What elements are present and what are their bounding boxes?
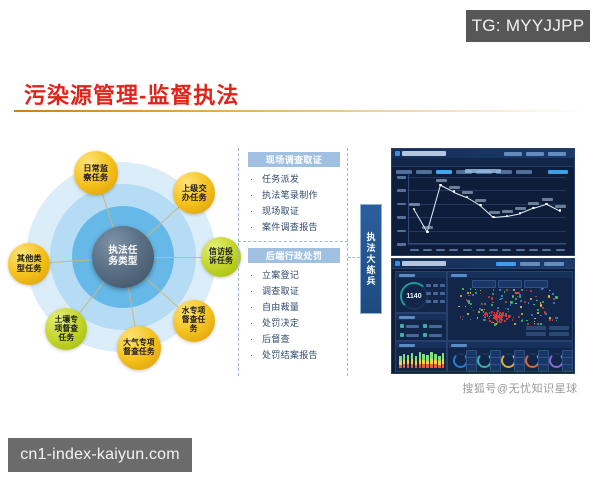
map-marker-dot[interactable] bbox=[536, 300, 538, 302]
bullet-icon: · bbox=[250, 286, 262, 296]
map-marker-dot[interactable] bbox=[470, 303, 472, 305]
diagram-node-label-7: 其他类型任务 bbox=[14, 254, 44, 272]
gridline-5 bbox=[408, 244, 566, 245]
x-axis-tick-label-1 bbox=[410, 249, 419, 252]
bullet-icon: · bbox=[250, 190, 262, 200]
map-marker-dot[interactable] bbox=[499, 289, 501, 291]
x-axis-tick-label-11 bbox=[542, 249, 551, 252]
map-marker-dot[interactable] bbox=[550, 290, 552, 292]
bar-11[interactable] bbox=[438, 356, 441, 368]
map-marker-dot[interactable] bbox=[552, 293, 554, 295]
gauge-metric-cell bbox=[426, 292, 431, 295]
lists-dashed-separator bbox=[238, 241, 348, 242]
map-marker-dot[interactable] bbox=[462, 319, 463, 320]
map-hotspot-dot[interactable] bbox=[491, 322, 493, 324]
dashboard-nav-item-3[interactable] bbox=[548, 152, 566, 157]
map-marker-dot[interactable] bbox=[508, 311, 509, 312]
diagram-node-label-3: 信访投诉任务 bbox=[207, 248, 235, 266]
map-marker-dot[interactable] bbox=[489, 316, 490, 317]
station-metric-chip bbox=[466, 364, 477, 372]
map-hotspot-dot[interactable] bbox=[491, 311, 493, 313]
map-marker-dot[interactable] bbox=[555, 296, 557, 298]
gis-title-placeholder bbox=[402, 261, 446, 266]
gauge-metric-cell bbox=[440, 292, 445, 295]
list-item-label: 自由裁量 bbox=[262, 302, 299, 312]
gis-station-panel bbox=[447, 341, 573, 372]
diagram-center-label: 执法任务类型 bbox=[104, 246, 142, 268]
data-label-3 bbox=[436, 179, 447, 182]
y-axis-tick-label-1 bbox=[397, 189, 406, 192]
x-axis-tick-label-2 bbox=[423, 249, 432, 252]
x-axis-tick-label-6 bbox=[476, 249, 485, 252]
map-marker-dot[interactable] bbox=[534, 304, 535, 305]
map-marker-dot[interactable] bbox=[556, 317, 558, 319]
map-marker-dot[interactable] bbox=[510, 304, 511, 305]
y-axis-line bbox=[408, 175, 409, 244]
bar-4[interactable] bbox=[411, 353, 414, 368]
vertical-banner-enforcement-drill: 执法大练兵 bbox=[360, 204, 382, 314]
data-point-3[interactable] bbox=[439, 184, 442, 187]
list-item[interactable]: ·任务派发 bbox=[250, 172, 299, 185]
gis-kpi-panel-header bbox=[396, 314, 446, 320]
map-hotspot-dot[interactable] bbox=[502, 316, 504, 318]
data-point-11[interactable] bbox=[545, 203, 548, 206]
dashboard-line-chart-screenshot bbox=[391, 148, 575, 256]
vertical-banner-label: 执法大练兵 bbox=[365, 232, 378, 287]
bullet-icon: · bbox=[250, 222, 262, 232]
map-marker-dot[interactable] bbox=[537, 312, 539, 314]
line-chart-title-placeholder bbox=[392, 169, 574, 173]
list-item-label: 执法笔录制作 bbox=[262, 190, 318, 200]
gis-bar-panel-header bbox=[396, 342, 446, 348]
list-item-label: 案件调查报告 bbox=[262, 222, 318, 232]
gauge-metric-cell bbox=[433, 284, 438, 287]
gis-map-panel-header bbox=[448, 272, 572, 278]
bar-segment bbox=[407, 364, 410, 368]
diagram-center-sphere: 执法任务类型 bbox=[92, 226, 154, 288]
x-axis-tick-label-5 bbox=[463, 249, 472, 252]
map-marker-dot[interactable] bbox=[513, 289, 515, 291]
map-marker-dot[interactable] bbox=[506, 289, 508, 291]
map-marker-dot[interactable] bbox=[465, 306, 467, 308]
map-marker-dot[interactable] bbox=[534, 324, 535, 325]
map-marker-dot[interactable] bbox=[481, 303, 483, 305]
station-metric-chip bbox=[538, 364, 549, 372]
map-marker-dot[interactable] bbox=[515, 303, 516, 304]
map-marker-dot[interactable] bbox=[521, 320, 523, 322]
x-axis-tick-label-10 bbox=[529, 249, 538, 252]
map-marker-dot[interactable] bbox=[484, 303, 486, 305]
station-metric-chip bbox=[490, 364, 501, 372]
gis-nav-item-1-active[interactable] bbox=[496, 262, 516, 267]
list-item[interactable]: ·处罚决定 bbox=[250, 316, 299, 329]
map-marker-dot[interactable] bbox=[463, 316, 464, 317]
bullet-icon: · bbox=[250, 270, 262, 280]
x-axis-tick-label-8 bbox=[502, 249, 511, 252]
kpi-icon bbox=[400, 333, 404, 337]
x-axis-tick-label-9 bbox=[516, 249, 525, 252]
bar-segment bbox=[403, 364, 406, 368]
map-marker-dot[interactable] bbox=[460, 316, 462, 318]
map-hotspot-dot[interactable] bbox=[505, 315, 507, 317]
map-marker-dot[interactable] bbox=[519, 294, 521, 296]
map-hotspot-dot[interactable] bbox=[497, 322, 499, 324]
data-label-7 bbox=[489, 211, 500, 214]
data-label-11 bbox=[542, 198, 553, 201]
x-axis-tick-label-12 bbox=[556, 249, 565, 252]
map-marker-dot[interactable] bbox=[520, 300, 522, 302]
process-lists: 现场调查取证 ·任务派发·执法笔录制作·现场取证·案件调查报告 后端行政处罚 ·… bbox=[238, 148, 348, 376]
bar-segment bbox=[434, 364, 437, 368]
bar-9[interactable] bbox=[430, 352, 433, 368]
map-hotspot-dot[interactable] bbox=[485, 319, 487, 321]
dashboard-title-placeholder bbox=[402, 151, 446, 156]
map-marker-dot[interactable] bbox=[501, 295, 502, 296]
diagram-node-7[interactable]: 其他类型任务 bbox=[8, 243, 50, 285]
data-label-1 bbox=[409, 203, 420, 206]
gis-gauge-value: 1140 bbox=[406, 293, 421, 300]
bar-segment bbox=[430, 364, 433, 368]
diagram-node-label-5: 大气专项督查任务 bbox=[123, 339, 155, 356]
map-marker-dot[interactable] bbox=[475, 289, 476, 290]
bar-10[interactable] bbox=[434, 354, 437, 368]
diagram-node-6[interactable]: 土壤专项督查任务 bbox=[45, 308, 87, 350]
map-marker-dot[interactable] bbox=[552, 319, 554, 321]
bar-segment bbox=[415, 365, 418, 368]
map-marker-dot[interactable] bbox=[505, 301, 507, 303]
map-marker-dot[interactable] bbox=[458, 306, 459, 307]
bullet-icon: · bbox=[250, 334, 262, 344]
map-hotspot-dot[interactable] bbox=[497, 310, 499, 312]
list-item[interactable]: ·现场取证 bbox=[250, 204, 299, 217]
map-marker-dot[interactable] bbox=[491, 304, 493, 306]
map-marker-dot[interactable] bbox=[553, 298, 555, 300]
bar-segment bbox=[422, 364, 425, 368]
bar-segment bbox=[426, 364, 429, 368]
map-marker-dot[interactable] bbox=[497, 307, 499, 309]
gis-map-legend-2 bbox=[549, 326, 569, 330]
map-marker-dot[interactable] bbox=[515, 298, 517, 300]
x-axis-tick-label-3 bbox=[436, 249, 445, 252]
map-marker-dot[interactable] bbox=[479, 308, 481, 310]
y-axis-tick-label-4 bbox=[397, 230, 406, 233]
list-item[interactable]: ·立案登记 bbox=[250, 268, 299, 281]
gis-map-legend-3 bbox=[526, 332, 546, 336]
list-item-label: 处罚结案报告 bbox=[262, 350, 318, 360]
bar-7[interactable] bbox=[422, 354, 425, 368]
diagram-node-label-2: 上级交办任务 bbox=[179, 184, 209, 202]
gis-map-panel[interactable] bbox=[447, 271, 573, 341]
map-marker-dot[interactable] bbox=[540, 315, 542, 317]
bullet-icon: · bbox=[250, 350, 262, 360]
diagram-node-3[interactable]: 信访投诉任务 bbox=[201, 237, 241, 277]
connector-dashed-line bbox=[348, 257, 360, 259]
diagram-node-label-6: 土壤专项督查任务 bbox=[51, 316, 81, 342]
x-axis-line bbox=[408, 243, 566, 244]
data-label-12 bbox=[555, 205, 566, 208]
list-item-label: 处罚决定 bbox=[262, 318, 299, 328]
map-marker-dot[interactable] bbox=[543, 288, 544, 289]
bullet-icon: · bbox=[250, 174, 262, 184]
gis-map-tab-1[interactable] bbox=[472, 280, 496, 288]
bar-segment bbox=[419, 352, 422, 359]
kpi-icon bbox=[400, 324, 404, 328]
list-header-field-investigation: 现场调查取证 bbox=[248, 152, 340, 167]
kpi-icon bbox=[423, 324, 427, 328]
kpi-value bbox=[406, 334, 419, 337]
map-marker-dot[interactable] bbox=[470, 292, 472, 294]
map-marker-dot[interactable] bbox=[527, 323, 529, 325]
map-marker-dot[interactable] bbox=[548, 295, 550, 297]
telegram-watermark-badge: TG: MYYJJPP bbox=[466, 10, 590, 42]
diagram-node-label-1: 日常监察任务 bbox=[80, 164, 112, 182]
enforcement-task-radial-diagram: 执法任务类型 日常监察任务上级交办任务信访投诉任务水专项督查任务大气专项督查任务… bbox=[6, 146, 234, 378]
map-marker-dot[interactable] bbox=[493, 293, 494, 294]
map-marker-dot[interactable] bbox=[517, 296, 518, 297]
kpi-icon bbox=[423, 333, 427, 337]
map-marker-dot[interactable] bbox=[512, 319, 514, 321]
bar-segment bbox=[411, 364, 414, 368]
map-marker-dot[interactable] bbox=[534, 321, 535, 322]
map-marker-dot[interactable] bbox=[478, 311, 480, 313]
map-marker-dot[interactable] bbox=[462, 288, 464, 290]
list-item[interactable]: ·自由裁量 bbox=[250, 300, 299, 313]
gis-map-tab-3[interactable] bbox=[524, 280, 548, 288]
map-marker-dot[interactable] bbox=[500, 298, 502, 300]
list-item[interactable]: ·执法笔录制作 bbox=[250, 188, 318, 201]
bar-1[interactable] bbox=[399, 356, 402, 368]
map-hotspot-dot[interactable] bbox=[508, 317, 510, 319]
gauge-metric-cell bbox=[440, 300, 445, 303]
bar-5[interactable] bbox=[415, 356, 418, 368]
map-hotspot-dot[interactable] bbox=[490, 315, 492, 317]
map-hotspot-dot[interactable] bbox=[504, 320, 506, 322]
author-credit-text: 搜狐号@无忧知识星球 bbox=[446, 380, 594, 396]
map-hotspot-dot[interactable] bbox=[499, 322, 501, 324]
x-axis-tick-label-7 bbox=[489, 249, 498, 252]
bar-segment bbox=[442, 364, 445, 368]
y-axis-tick-label-0 bbox=[397, 176, 406, 179]
map-marker-dot[interactable] bbox=[472, 294, 474, 296]
map-marker-dot[interactable] bbox=[540, 302, 541, 303]
station-metric-chip bbox=[562, 364, 573, 372]
data-point-12[interactable] bbox=[559, 209, 562, 212]
data-point-4[interactable] bbox=[453, 190, 456, 193]
gauge-metric-cell bbox=[426, 284, 431, 287]
list-item-label: 现场取证 bbox=[262, 206, 299, 216]
map-marker-dot[interactable] bbox=[512, 295, 514, 297]
diagram-node-4[interactable]: 水专项督查任务 bbox=[173, 300, 215, 342]
list-item[interactable]: ·调查取证 bbox=[250, 284, 299, 297]
gauge-metric-cell bbox=[433, 300, 438, 303]
gis-bar-chart-panel bbox=[395, 341, 447, 372]
map-marker-dot[interactable] bbox=[502, 298, 503, 299]
list-header-administrative-penalty: 后端行政处罚 bbox=[248, 248, 340, 263]
y-axis-tick-label-2 bbox=[397, 203, 406, 206]
list-item[interactable]: ·后督查 bbox=[250, 332, 290, 345]
map-marker-dot[interactable] bbox=[480, 293, 481, 294]
bar-2[interactable] bbox=[403, 354, 406, 368]
dashboard-nav-item-1[interactable] bbox=[504, 152, 522, 157]
map-marker-dot[interactable] bbox=[521, 313, 523, 315]
map-marker-dot[interactable] bbox=[553, 302, 555, 304]
map-marker-dot[interactable] bbox=[528, 302, 530, 304]
map-marker-dot[interactable] bbox=[473, 310, 474, 311]
dashboard-gis-map-screenshot: 1140 bbox=[391, 258, 575, 374]
data-label-9 bbox=[515, 207, 526, 210]
map-marker-dot[interactable] bbox=[542, 301, 544, 303]
map-marker-dot[interactable] bbox=[466, 299, 467, 300]
diagram-node-5[interactable]: 大气专项督查任务 bbox=[117, 326, 161, 370]
map-marker-dot[interactable] bbox=[510, 301, 512, 303]
map-marker-dot[interactable] bbox=[513, 317, 514, 318]
diagram-node-2[interactable]: 上级交办任务 bbox=[173, 172, 215, 214]
kpi-value bbox=[429, 325, 442, 328]
map-marker-dot[interactable] bbox=[520, 306, 522, 308]
gridline-0 bbox=[408, 177, 566, 178]
gauge-metric-cell bbox=[440, 284, 445, 287]
dashboard-subnav-bar bbox=[392, 158, 574, 167]
gauge-metric-cell bbox=[433, 292, 438, 295]
data-label-4 bbox=[449, 186, 460, 189]
map-marker-dot[interactable] bbox=[526, 320, 528, 322]
map-marker-dot[interactable] bbox=[467, 313, 469, 315]
map-marker-dot[interactable] bbox=[471, 307, 472, 308]
x-axis-tick-label-4 bbox=[449, 249, 458, 252]
line-segment-1 bbox=[414, 209, 428, 232]
data-label-10 bbox=[528, 202, 539, 205]
map-marker-dot[interactable] bbox=[481, 309, 483, 311]
slide-title: 污染源管理-监督执法 bbox=[24, 78, 239, 110]
map-marker-dot[interactable] bbox=[549, 319, 551, 321]
slide-canvas: TG: MYYJJPP cn1-index-kaiyun.com 搜狐号@无忧知… bbox=[0, 0, 600, 480]
map-marker-dot[interactable] bbox=[477, 317, 479, 319]
map-marker-dot[interactable] bbox=[526, 290, 527, 291]
gis-map-tab-2[interactable] bbox=[498, 280, 522, 288]
gis-station-panel-header bbox=[448, 342, 572, 348]
map-marker-dot[interactable] bbox=[491, 297, 493, 299]
map-marker-dot[interactable] bbox=[507, 308, 509, 310]
gauge-metric-cell bbox=[426, 300, 431, 303]
map-marker-dot[interactable] bbox=[460, 295, 462, 297]
map-marker-dot[interactable] bbox=[544, 311, 546, 313]
gridline-4 bbox=[408, 231, 566, 232]
map-marker-dot[interactable] bbox=[530, 290, 532, 292]
map-marker-dot[interactable] bbox=[542, 307, 544, 309]
bullet-icon: · bbox=[250, 318, 262, 328]
map-marker-dot[interactable] bbox=[540, 304, 542, 306]
map-marker-dot[interactable] bbox=[549, 290, 550, 291]
map-marker-dot[interactable] bbox=[530, 298, 532, 300]
map-marker-dot[interactable] bbox=[537, 323, 538, 324]
map-marker-dot[interactable] bbox=[518, 316, 520, 318]
bar-12[interactable] bbox=[442, 353, 445, 368]
map-marker-dot[interactable] bbox=[468, 295, 469, 296]
map-marker-dot[interactable] bbox=[470, 319, 471, 320]
data-point-2[interactable] bbox=[426, 231, 429, 234]
diagram-node-label-4: 水专项督查任务 bbox=[179, 307, 209, 333]
list-item[interactable]: ·处罚结案报告 bbox=[250, 348, 318, 361]
list-item-label: 调查取证 bbox=[262, 286, 299, 296]
bar-segment bbox=[438, 365, 441, 368]
kpi-value bbox=[406, 325, 419, 328]
map-hotspot-dot[interactable] bbox=[506, 318, 508, 320]
data-label-8 bbox=[502, 210, 513, 213]
list-item-label: 立案登记 bbox=[262, 270, 299, 280]
gis-logo-icon bbox=[395, 261, 400, 266]
map-marker-dot[interactable] bbox=[519, 296, 521, 298]
dashboard-nav-item-2[interactable] bbox=[526, 152, 544, 157]
data-label-5 bbox=[462, 191, 473, 194]
gis-map-legend-1 bbox=[526, 326, 546, 330]
bar-6[interactable] bbox=[419, 352, 422, 368]
map-marker-dot[interactable] bbox=[504, 291, 506, 293]
y-axis-tick-label-5 bbox=[397, 243, 406, 246]
list-item[interactable]: ·案件调查报告 bbox=[250, 220, 318, 233]
map-marker-dot[interactable] bbox=[470, 288, 471, 289]
map-marker-dot[interactable] bbox=[556, 320, 557, 321]
map-marker-dot[interactable] bbox=[524, 301, 526, 303]
bar-8[interactable] bbox=[426, 355, 429, 368]
map-marker-dot[interactable] bbox=[514, 323, 516, 325]
bar-segment bbox=[399, 365, 402, 368]
diagram-node-1[interactable]: 日常监察任务 bbox=[74, 151, 118, 195]
data-label-2 bbox=[422, 226, 433, 229]
bar-3[interactable] bbox=[407, 355, 410, 368]
gis-gauge-panel-header bbox=[396, 272, 446, 278]
map-marker-dot[interactable] bbox=[540, 323, 541, 324]
gis-gauge-panel: 1140 bbox=[395, 271, 447, 313]
gis-total-gauge: 1140 bbox=[400, 282, 428, 310]
map-marker-dot[interactable] bbox=[537, 309, 539, 311]
bullet-icon: · bbox=[250, 206, 262, 216]
bullet-icon: · bbox=[250, 302, 262, 312]
gis-nav-item-3[interactable] bbox=[544, 262, 564, 267]
gis-kpi-panel bbox=[395, 313, 447, 341]
bar-segment bbox=[419, 364, 422, 368]
map-hotspot-dot[interactable] bbox=[484, 316, 486, 318]
data-label-6 bbox=[475, 199, 486, 202]
gridline-1 bbox=[408, 190, 566, 191]
map-marker-dot[interactable] bbox=[475, 292, 477, 294]
map-marker-dot[interactable] bbox=[534, 318, 536, 320]
kpi-value bbox=[429, 334, 442, 337]
station-metric-chip bbox=[514, 364, 525, 372]
map-marker-dot[interactable] bbox=[531, 314, 533, 316]
map-marker-dot[interactable] bbox=[480, 290, 482, 292]
gis-titlebar bbox=[392, 259, 574, 269]
map-marker-dot[interactable] bbox=[484, 309, 485, 310]
data-point-10[interactable] bbox=[532, 207, 535, 210]
y-axis-tick-label-3 bbox=[397, 216, 406, 219]
map-hotspot-dot[interactable] bbox=[496, 316, 498, 318]
map-marker-dot[interactable] bbox=[535, 296, 537, 298]
gis-nav-item-2[interactable] bbox=[520, 262, 540, 267]
site-url-watermark-badge: cn1-index-kaiyun.com bbox=[8, 438, 192, 472]
list-item-label: 后督查 bbox=[262, 334, 290, 344]
map-hotspot-dot[interactable] bbox=[494, 316, 496, 318]
gis-map-legend-4 bbox=[549, 332, 569, 336]
list-item-label: 任务派发 bbox=[262, 174, 299, 184]
dashboard-logo-icon bbox=[395, 151, 400, 156]
map-hotspot-dot[interactable] bbox=[509, 315, 511, 317]
title-underline-rule bbox=[14, 110, 586, 112]
map-marker-dot[interactable] bbox=[493, 289, 494, 290]
map-marker-dot[interactable] bbox=[521, 289, 523, 291]
map-marker-dot[interactable] bbox=[489, 312, 490, 313]
